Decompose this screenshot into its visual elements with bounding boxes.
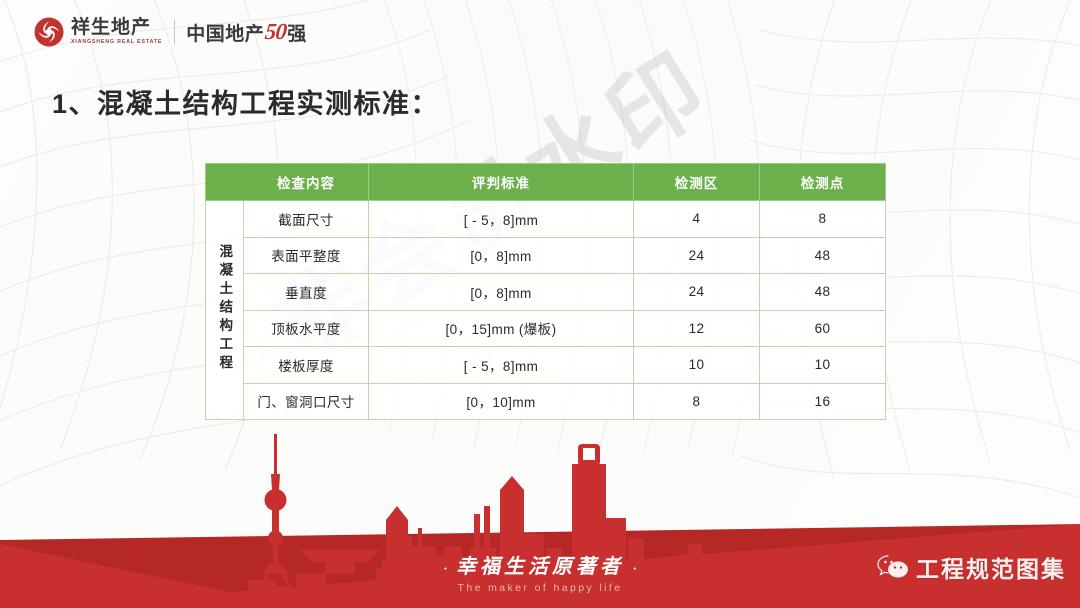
cell-item: 门、窗洞口尺寸 [244,383,369,420]
tagline-dot-right: · [633,560,636,575]
col-header-item: 检查内容 [244,164,369,201]
tagline-dot-left: · [444,560,447,575]
brand-name-en: XIANGSHENG REAL ESTATE [71,39,162,46]
cell-points: 16 [760,383,886,420]
cell-criterion: [ - 5，8]mm [369,347,634,384]
page-title: 1、混凝土结构工程实测标准： [52,82,439,121]
cell-criterion: [0，8]mm [369,237,634,274]
cell-points: 8 [760,201,886,238]
brand-name-cn: 祥生地产 [71,18,162,38]
rank-badge: 中国地产 50 强 [186,19,307,46]
cell-zones: 24 [634,237,760,274]
wechat-icon [876,552,910,582]
spec-table: 检查内容 评判标准 检测区 检测点 混凝土结构工程 截面尺寸 [ - 5，8]m… [205,163,886,420]
cell-item: 截面尺寸 [244,201,369,238]
rank-prefix: 中国地产 [186,19,264,46]
table-row: 门、窗洞口尺寸 [0，10]mm 8 16 [206,383,886,420]
cell-item: 楼板厚度 [244,347,369,384]
cell-criterion: [0，15]mm (爆板) [369,310,634,347]
table-row: 垂直度 [0，8]mm 24 48 [206,274,886,311]
rank-number: 50 [264,19,288,45]
table-row: 楼板厚度 [ - 5，8]mm 10 10 [206,347,886,384]
slide-canvas: 祥生地产 XIANGSHENG REAL ESTATE 中国地产 50 强 1、… [0,0,1080,608]
cell-points: 10 [760,347,886,384]
spec-table-container: 检查内容 评判标准 检测区 检测点 混凝土结构工程 截面尺寸 [ - 5，8]m… [205,163,885,420]
cell-zones: 8 [634,383,760,420]
cell-criterion: [0，10]mm [369,383,634,420]
cell-zones: 4 [634,201,760,238]
table-row: 顶板水平度 [0，15]mm (爆板) 12 60 [206,310,886,347]
brand-divider [174,19,175,45]
table-corner-cell [206,164,244,201]
cell-criterion: [ - 5，8]mm [369,201,634,238]
cell-points: 48 [760,237,886,274]
cell-zones: 12 [634,310,760,347]
wechat-label: 工程规范图集 [916,550,1066,584]
cell-item: 垂直度 [244,274,369,311]
table-row: 表面平整度 [0，8]mm 24 48 [206,237,886,274]
cell-points: 60 [760,310,886,347]
table-header-row: 检查内容 评判标准 检测区 检测点 [206,164,886,201]
tagline-cn-text: 幸福生活原著者 [456,556,624,578]
cell-zones: 24 [634,274,760,311]
cell-zones: 10 [634,347,760,384]
col-header-points: 检测点 [760,164,886,201]
swirl-logo-icon [34,17,64,47]
wechat-watermark-badge: 工程规范图集 [876,550,1066,584]
brand-header: 祥生地产 XIANGSHENG REAL ESTATE 中国地产 50 强 [34,12,307,52]
col-header-criterion: 评判标准 [369,164,634,201]
col-header-zones: 检测区 [634,164,760,201]
cell-points: 48 [760,274,886,311]
cell-criterion: [0，8]mm [369,274,634,311]
cell-item: 表面平整度 [244,237,369,274]
group-label-cell: 混凝土结构工程 [206,201,244,420]
rank-suffix: 强 [287,19,307,46]
table-row: 混凝土结构工程 截面尺寸 [ - 5，8]mm 4 8 [206,201,886,238]
cell-item: 顶板水平度 [244,310,369,347]
group-label-text: 混凝土结构工程 [218,201,232,416]
